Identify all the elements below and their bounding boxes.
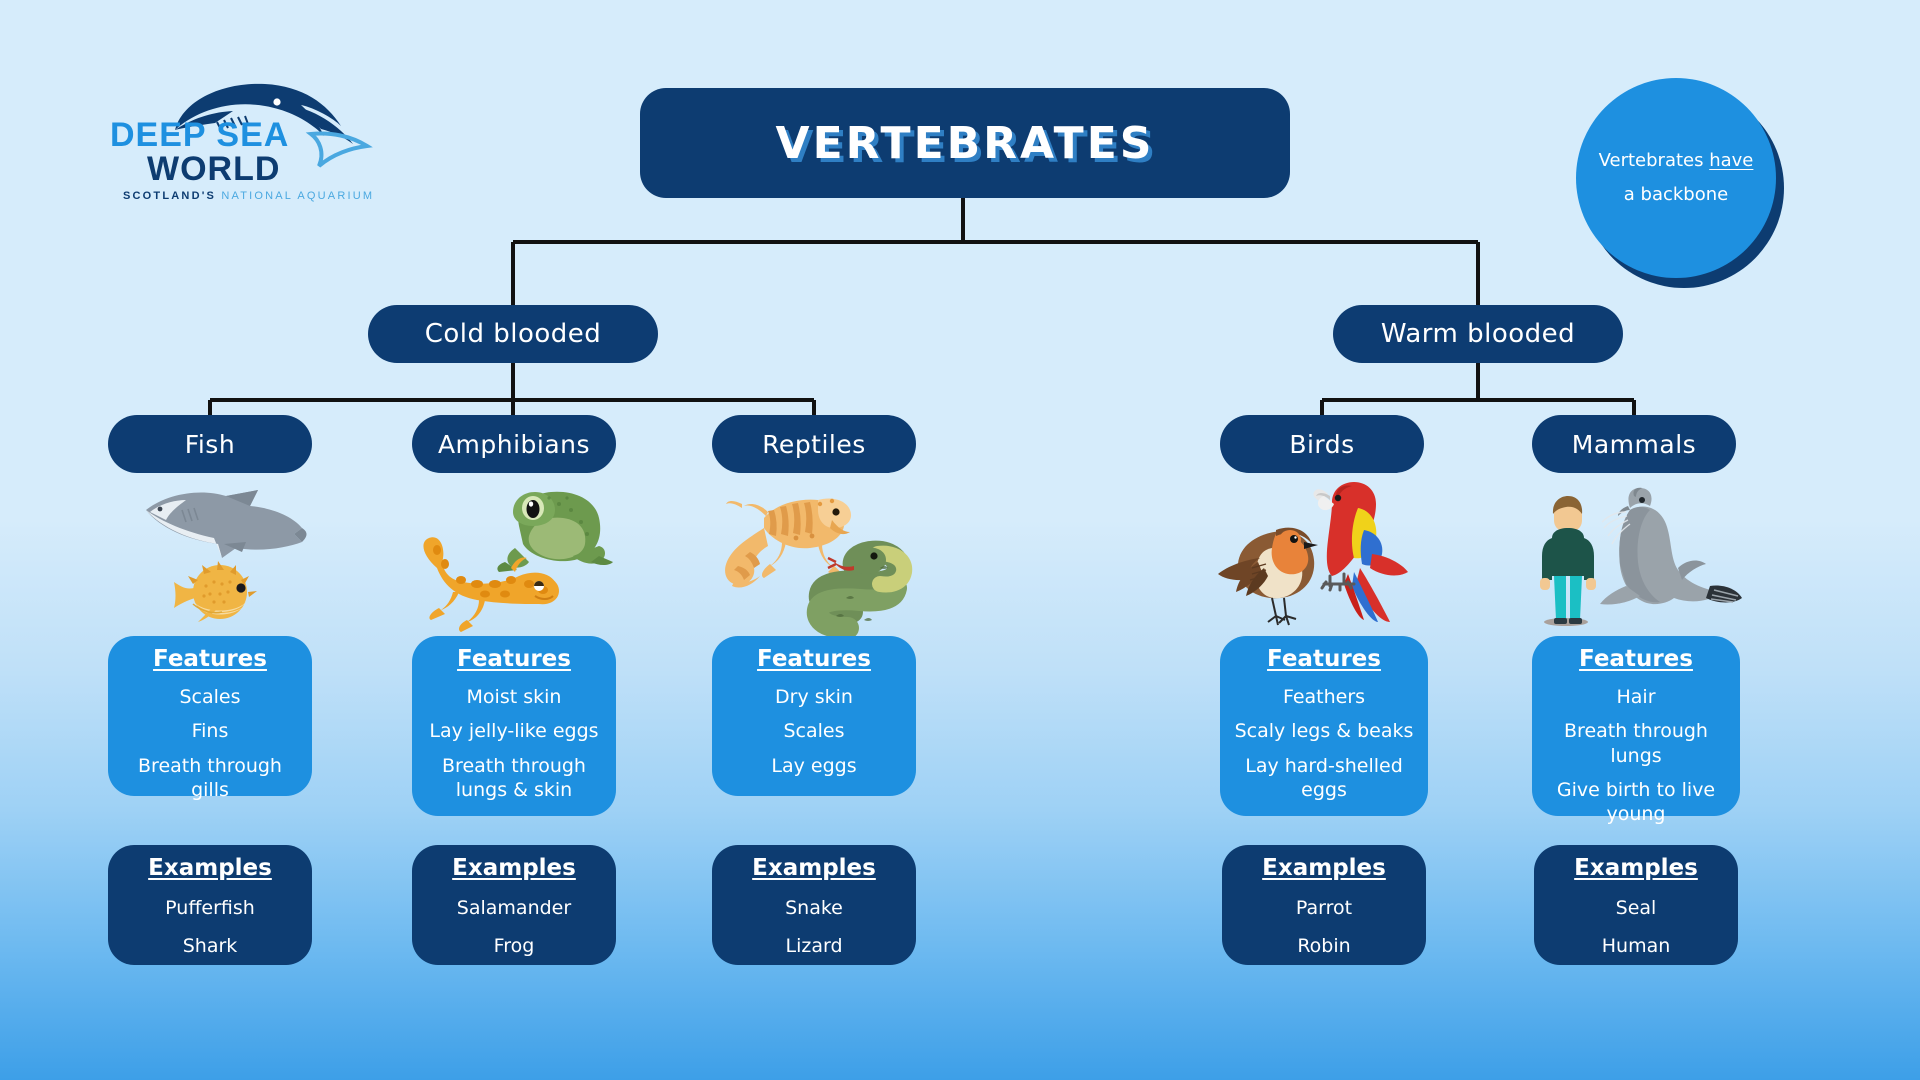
features-card-amphibians: Features Moist skin Lay jelly-like eggs …: [412, 636, 616, 816]
class-node-birds: Birds: [1220, 415, 1424, 473]
branch-warm-blooded: Warm blooded: [1333, 305, 1623, 363]
examples-card-amphibians: Examples Salamander Frog: [412, 845, 616, 965]
example-item: Seal: [1616, 896, 1657, 920]
robin-illustration: [1218, 528, 1318, 625]
pufferfish-illustration: [174, 561, 257, 622]
feature-item: Lay hard-shelled eggs: [1232, 754, 1416, 803]
seal-illustration: [1600, 488, 1742, 605]
example-item: Human: [1602, 934, 1671, 958]
features-card-birds: Features Feathers Scaly legs & beaks Lay…: [1220, 636, 1428, 816]
examples-heading: Examples: [1574, 855, 1698, 881]
example-item: Shark: [183, 934, 238, 958]
branch-cold-blooded: Cold blooded: [368, 305, 658, 363]
class-node-fish: Fish: [108, 415, 312, 473]
backbone-badge: Vertebrates have a backbone: [1576, 78, 1792, 294]
amphibian-illustrations: [415, 482, 615, 622]
page-title: VERTEBRATES: [640, 88, 1290, 198]
feature-item: Dry skin: [775, 685, 853, 709]
examples-heading: Examples: [148, 855, 272, 881]
features-heading: Features: [457, 646, 571, 672]
example-item: Salamander: [457, 896, 571, 920]
feature-item: Lay jelly-like eggs: [429, 719, 598, 743]
feature-item: Breath through gills: [120, 754, 300, 803]
feature-item: Scales: [783, 719, 844, 743]
class-node-amphibians: Amphibians: [412, 415, 616, 473]
class-node-reptiles: Reptiles: [712, 415, 916, 473]
snake-illustration: [818, 548, 904, 628]
examples-card-birds: Examples Parrot Robin: [1222, 845, 1426, 965]
feature-item: Give birth to live young: [1544, 778, 1728, 827]
feature-item: Hair: [1616, 685, 1655, 709]
features-card-reptiles: Features Dry skin Scales Lay eggs: [712, 636, 916, 796]
fish-illustrations: [126, 482, 316, 622]
features-heading: Features: [757, 646, 871, 672]
badge-content: Vertebrates have a backbone: [1576, 78, 1776, 278]
badge-line-2: a backbone: [1624, 178, 1728, 212]
feature-item: Breath through lungs & skin: [424, 754, 604, 803]
features-heading: Features: [1267, 646, 1381, 672]
examples-heading: Examples: [1262, 855, 1386, 881]
examples-card-fish: Examples Pufferfish Shark: [108, 845, 312, 965]
examples-heading: Examples: [452, 855, 576, 881]
human-illustration: [1540, 496, 1596, 626]
class-node-mammals: Mammals: [1532, 415, 1736, 473]
mammal-illustrations: [1530, 478, 1730, 628]
feature-item: Scales: [179, 685, 240, 709]
example-item: Parrot: [1296, 896, 1352, 920]
features-card-fish: Features Scales Fins Breath through gill…: [108, 636, 312, 796]
feature-item: Lay eggs: [771, 754, 856, 778]
feature-item: Breath through lungs: [1544, 719, 1728, 768]
example-item: Lizard: [785, 934, 842, 958]
bird-illustrations: [1218, 480, 1418, 625]
feature-item: Fins: [192, 719, 229, 743]
parrot-illustration: [1313, 482, 1408, 622]
example-item: Pufferfish: [165, 896, 255, 920]
badge-line-1-pre: Vertebrates: [1599, 150, 1710, 171]
feature-item: Scaly legs & beaks: [1235, 719, 1414, 743]
feature-item: Feathers: [1283, 685, 1365, 709]
frog-illustration: [497, 492, 613, 572]
example-item: Frog: [494, 934, 535, 958]
examples-card-reptiles: Examples Snake Lizard: [712, 845, 916, 965]
feature-item: Moist skin: [467, 685, 562, 709]
reptile-illustrations: [712, 480, 912, 625]
features-card-mammals: Features Hair Breath through lungs Give …: [1532, 636, 1740, 816]
examples-card-mammals: Examples Seal Human: [1534, 845, 1738, 965]
infographic-canvas: DEEP SEA WORLD SCOTLAND'S NATIONAL AQUAR…: [0, 0, 1920, 1080]
features-heading: Features: [1579, 646, 1693, 672]
badge-line-1-underlined: have: [1709, 150, 1753, 171]
example-item: Snake: [785, 896, 843, 920]
examples-heading: Examples: [752, 855, 876, 881]
badge-line-1: Vertebrates have: [1599, 144, 1754, 178]
example-item: Robin: [1297, 934, 1350, 958]
shark-illustration: [146, 490, 307, 558]
features-heading: Features: [153, 646, 267, 672]
